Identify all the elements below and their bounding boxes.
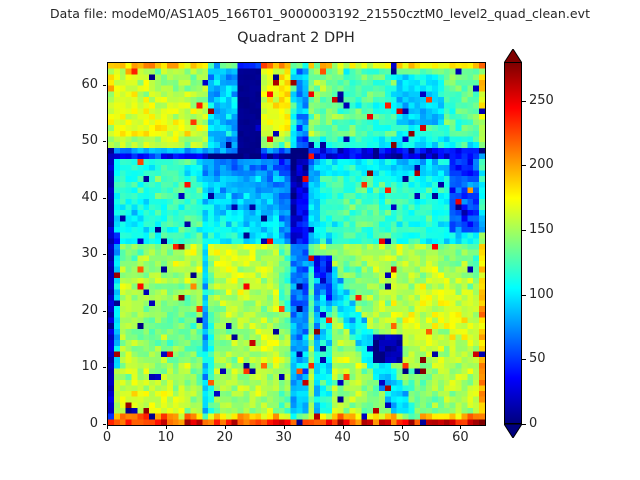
y-tick-label: 60	[54, 77, 98, 92]
y-tick-label: 50	[54, 133, 98, 148]
y-tick-mark	[103, 424, 107, 425]
x-tick-mark	[284, 425, 285, 429]
colorbar-tick-mark	[522, 165, 526, 166]
x-tick-label: 40	[320, 430, 366, 445]
y-tick-label: 40	[54, 190, 98, 205]
x-tick-label: 20	[202, 430, 248, 445]
heatmap-image[interactable]	[108, 63, 485, 425]
colorbar-tick-label: 50	[529, 351, 546, 366]
y-tick-mark	[103, 367, 107, 368]
data-file-label: Data file: modeM0/AS1A05_166T01_90000031…	[0, 6, 640, 21]
y-tick-label: 20	[54, 303, 98, 318]
colorbar-tick-mark	[522, 424, 526, 425]
colorbar-body[interactable]	[504, 62, 522, 424]
colorbar-tick-mark	[522, 359, 526, 360]
x-tick-mark	[225, 425, 226, 429]
y-tick-label: 10	[54, 359, 98, 374]
x-tick-mark	[166, 425, 167, 429]
y-tick-mark	[103, 254, 107, 255]
colorbar-tick-mark	[522, 230, 526, 231]
y-tick-mark	[103, 85, 107, 86]
x-tick-label: 30	[261, 430, 307, 445]
x-tick-mark	[343, 425, 344, 429]
y-tick-mark	[103, 141, 107, 142]
x-tick-mark	[460, 425, 461, 429]
y-tick-label: 0	[54, 416, 98, 431]
y-tick-mark	[103, 198, 107, 199]
colorbar[interactable]	[504, 62, 522, 424]
y-tick-mark	[103, 311, 107, 312]
x-tick-label: 60	[437, 430, 483, 445]
heatmap-axes[interactable]	[107, 62, 486, 426]
colorbar-tick-label: 100	[529, 287, 554, 302]
colorbar-tick-label: 0	[529, 416, 537, 431]
x-tick-label: 50	[379, 430, 425, 445]
figure-canvas: Data file: modeM0/AS1A05_166T01_90000031…	[0, 0, 640, 480]
colorbar-extend-min-arrow	[504, 424, 522, 438]
colorbar-tick-mark	[522, 101, 526, 102]
colorbar-gradient	[505, 63, 521, 423]
plot-title: Quadrant 2 DPH	[0, 30, 592, 46]
colorbar-tick-mark	[522, 295, 526, 296]
x-tick-mark	[107, 425, 108, 429]
colorbar-tick-label: 150	[529, 222, 554, 237]
colorbar-extend-max-arrow	[504, 49, 522, 63]
colorbar-tick-label: 200	[529, 157, 554, 172]
x-tick-mark	[402, 425, 403, 429]
x-tick-label: 10	[143, 430, 189, 445]
y-tick-label: 30	[54, 246, 98, 261]
x-tick-label: 0	[84, 430, 130, 445]
colorbar-tick-label: 250	[529, 93, 554, 108]
